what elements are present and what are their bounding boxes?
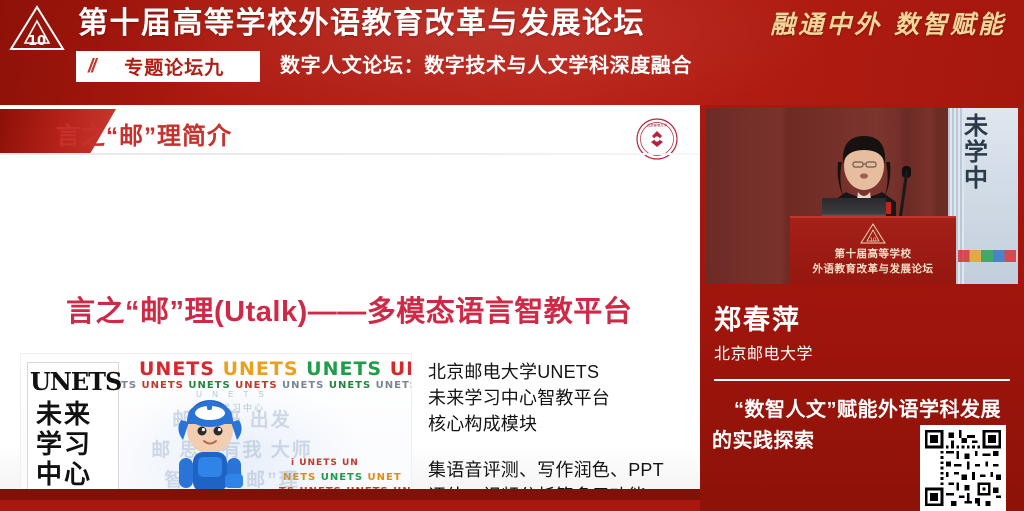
slide-canvas: 言之“邮”理简介 北京邮电大学 BUPT 言之“邮”理(Utalk)——多模态语… (0, 105, 700, 500)
slide-body-p1-line1: 北京邮电大学UNETS (428, 362, 599, 382)
slide-body-text: 北京邮电大学UNETS 未来学习中心智教平台 核心构成模块 集语音评测、写作润色… (428, 359, 684, 500)
slide-section-title: 言之“邮”理简介 (56, 116, 232, 151)
slide-figure-unets-poster: UNETS UNETS UNETS UNETS TS UNETS UNETS U… (20, 353, 412, 500)
event-header-banner: 10 第十届高等学校外语教育改革与发展论坛 融通中外 数智赋能 // 专题论坛九… (0, 0, 1024, 105)
forum-session-badge[interactable]: // 专题论坛九 (76, 51, 260, 82)
talk-title-line-1: “数智人文”赋能外语学科发展 (734, 399, 1001, 421)
figure-wordart-row-1: UNETS UNETS UNETS UNETS (139, 358, 412, 380)
slide-body-p2-line1: 集语音评测、写作润色、PPT (428, 460, 664, 480)
presentation-slide: 言之“邮”理简介 北京邮电大学 BUPT 言之“邮”理(Utalk)——多模态语… (0, 105, 700, 500)
badge-slashes-icon: // (88, 56, 95, 78)
svg-text:10: 10 (28, 34, 46, 49)
video-side-screen: 未学中 (948, 108, 1018, 284)
podium-text-line-2: 外语教育改革与发展论坛 (790, 262, 956, 277)
slide-title-rule (0, 153, 700, 155)
slide-main-heading: 言之“邮”理(Utalk)——多模态语言智教平台 (66, 288, 632, 330)
slide-bottom-strip (0, 489, 700, 500)
podium-text-line-1: 第十届高等学校 (790, 247, 956, 262)
talk-title-line-2: 的实践探索 (712, 430, 815, 452)
live-video-feed[interactable]: 未学中 (706, 108, 1018, 284)
video-screen-glyph: 未学中 (964, 114, 990, 192)
speaker-panel: 未学中 (700, 105, 1024, 511)
speaker-name: 郑春萍 (714, 298, 801, 337)
event-main-title: 第十届高等学校外语教育改革与发展论坛 (78, 2, 645, 46)
figure-watermark-en: U N E T S (167, 390, 297, 399)
slide-body-p1-line3: 核心构成模块 (428, 414, 537, 434)
event-slogan: 融通中外 数智赋能 (770, 6, 1006, 44)
figure-cutout-block: UNETS 未来 学习 中心 (27, 362, 119, 500)
qr-code[interactable] (920, 425, 1006, 511)
figure-cutout-cn-line-2: 学习 (36, 429, 92, 459)
screen-root: 10 第十届高等学校外语教育改革与发展论坛 融通中外 数智赋能 // 专题论坛九… (0, 0, 1024, 511)
forum-session-badge-label: 专题论坛九 (99, 53, 260, 80)
figure-cutout-en: UNETS (30, 367, 121, 396)
podium-text: 第十届高等学校 外语教育改革与发展论坛 (790, 247, 956, 277)
slide-title-bar: 言之“邮”理简介 北京邮电大学 BUPT (0, 109, 700, 153)
video-screen-colorbar (958, 250, 1016, 262)
svg-text:10: 10 (870, 238, 877, 244)
figure-cutout-cn: 未来 学习 中心 (36, 399, 92, 489)
podium-forum-logo-icon: 10 (860, 223, 886, 244)
svg-text:北京邮电大学: 北京邮电大学 (647, 123, 667, 128)
figure-cutout-cn-line-3: 中心 (36, 459, 92, 489)
unets-blue-mascot-icon (171, 400, 249, 500)
event-sub-title: 数字人文论坛：数字技术与人文学科深度融合 (280, 52, 692, 81)
video-podium: 10 第十届高等学校 外语教育改革与发展论坛 (790, 216, 956, 284)
forum-logo-icon: 10 (8, 4, 66, 52)
figure-cutout-cn-line-1: 未来 (36, 399, 92, 429)
panel-divider (714, 379, 1010, 381)
slide-body-p1-line2: 未来学习中心智教平台 (428, 388, 610, 408)
slide-body-paragraph-1: 北京邮电大学UNETS 未来学习中心智教平台 核心构成模块 (428, 359, 684, 437)
speaker-affiliation: 北京邮电大学 (714, 340, 813, 364)
